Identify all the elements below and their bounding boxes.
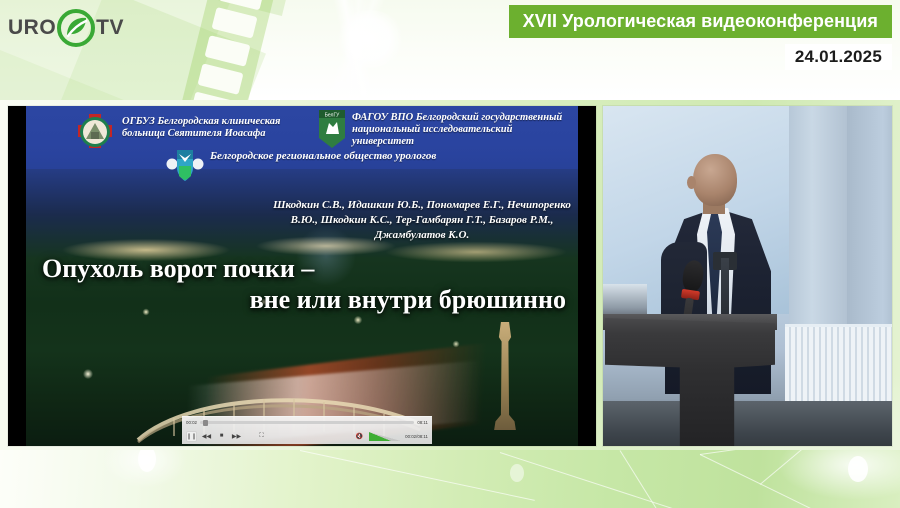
bsu-emblem-icon: БелГУ: [319, 110, 345, 148]
player-seek-row[interactable]: 00:02 08:11: [182, 418, 432, 427]
page-footer: [0, 450, 900, 508]
slide-title-line-1: Опухоль ворот почки –: [36, 254, 570, 285]
logo-text-uro: URO: [8, 16, 56, 40]
player-total-time: 08:11: [417, 420, 428, 425]
slide-content: БелГУ ОГБУЗ Белгородская клиническая бол…: [26, 106, 578, 446]
fullscreen-icon[interactable]: ⛶: [256, 431, 267, 442]
media-player-controls[interactable]: 00:02 08:11 ❙❙ ◀◀ ■ ▶▶ ⛶ 🔇 00:02/08:11: [182, 416, 432, 444]
slide-title: Опухоль ворот почки – вне или внутри брю…: [36, 254, 570, 315]
floor: [603, 401, 892, 446]
radiator: [785, 324, 892, 404]
urology-society-emblem-icon: [166, 148, 204, 184]
player-seek-knob[interactable]: [203, 420, 208, 426]
speaker-ear: [687, 176, 696, 189]
pause-icon[interactable]: ❙❙: [186, 431, 197, 442]
player-button-row[interactable]: ❙❙ ◀◀ ■ ▶▶ ⛶ 🔇 00:02/08:11: [182, 428, 432, 444]
conference-title-banner: XVII Урологическая видеоконференция: [509, 5, 892, 38]
player-remaining-time: 00:02/08:11: [405, 434, 428, 439]
slide-video-panel[interactable]: БелГУ ОГБУЗ Белгородская клиническая бол…: [8, 106, 596, 446]
player-current-time: 00:02: [186, 420, 197, 425]
svg-text:БелГУ: БелГУ: [325, 113, 341, 119]
volume-slider[interactable]: [369, 432, 401, 441]
leaf-circle-icon: [57, 9, 95, 47]
video-stage: БелГУ ОГБУЗ Белгородская клиническая бол…: [0, 100, 900, 450]
next-track-icon[interactable]: ▶▶: [231, 431, 242, 442]
page-header: URO TV XVII Урологическая видеоконференц…: [0, 0, 900, 100]
logo-text-tv: TV: [96, 16, 124, 40]
previous-track-icon[interactable]: ◀◀: [201, 431, 212, 442]
slide-authors: Шкодкин С.В., Идашкин Ю.Б., Пономарев Е.…: [272, 198, 572, 243]
stop-icon[interactable]: ■: [216, 431, 227, 442]
speaker-head: [693, 154, 737, 206]
slide-title-line-2: вне или внутри брюшинно: [36, 285, 570, 316]
player-seek-bar[interactable]: [200, 421, 414, 424]
header-glow-spot: [335, 10, 405, 68]
mute-icon[interactable]: 🔇: [354, 431, 365, 442]
speaker-video-panel[interactable]: [603, 106, 892, 446]
slide-org-university: ФАГОУ ВПО Белгородский государственный н…: [352, 112, 567, 147]
hospital-emblem-icon: [74, 112, 116, 154]
slide-org-hospital: ОГБУЗ Белгородская клиническая больница …: [122, 116, 322, 140]
slide-org-society: Белгородское региональное общество уроло…: [210, 150, 440, 162]
urotv-logo[interactable]: URO TV: [8, 8, 118, 48]
conference-date: 24.01.2025: [785, 44, 892, 70]
